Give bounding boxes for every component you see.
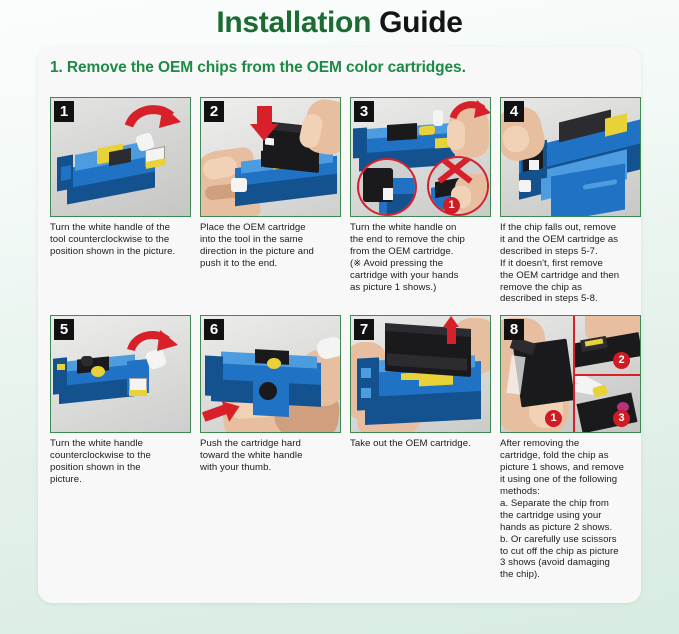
- step-caption-3: Turn the white handle on the end to remo…: [350, 222, 491, 293]
- red-curved-arrow-icon: [127, 330, 181, 360]
- step-number-badge: 4: [504, 101, 524, 122]
- step-caption-6: Push the cartridge hard toward the white…: [200, 438, 341, 474]
- step8-panel-2: [575, 316, 641, 374]
- steps-row-1: 1 Turn the white handle of the tool coun…: [50, 97, 630, 305]
- installation-guide-page: Installation Guide 1. Remove the OEM chi…: [0, 0, 679, 634]
- step-number-badge: 7: [354, 319, 374, 340]
- step-cell-2: 2 Place the OEM cartridge into the tool …: [200, 97, 341, 305]
- page-title-black: Guide: [379, 6, 463, 39]
- step-cell-7: 7 Take out the OEM cartridge.: [350, 315, 491, 581]
- step-image-7: 7: [350, 315, 491, 433]
- step-cell-3: 1 3 Turn the white handle on the end to …: [350, 97, 491, 305]
- step8-panel-3: [575, 376, 641, 433]
- step-number-badge: 8: [504, 319, 524, 340]
- section-heading: 1. Remove the OEM chips from the OEM col…: [50, 59, 466, 77]
- inset-number-badge-1: 1: [443, 197, 460, 214]
- step-image-3: 1 3: [350, 97, 491, 217]
- red-curved-arrow-icon: [449, 100, 491, 126]
- step-cell-8: 1 2 3 8 After removing the cartridge, fo…: [500, 315, 641, 581]
- step-cell-6: 6 Push the cartridge hard toward the whi…: [200, 315, 341, 581]
- steps-row-2: 5 Turn the white handle counterclockwise…: [50, 315, 630, 581]
- step-image-6: 6: [200, 315, 341, 433]
- page-title-green: Installation: [216, 6, 371, 39]
- step-image-8: 1 2 3 8: [500, 315, 641, 433]
- step-caption-4: If the chip falls out, remove it and the…: [500, 222, 641, 305]
- step-caption-1: Turn the white handle of the tool counte…: [50, 222, 191, 258]
- step-number-badge: 1: [54, 101, 74, 122]
- step-image-4: 4: [500, 97, 641, 217]
- step-cell-5: 5 Turn the white handle counterclockwise…: [50, 315, 191, 581]
- step-cell-1: 1 Turn the white handle of the tool coun…: [50, 97, 191, 305]
- step-caption-8: After removing the cartridge, fold the c…: [500, 438, 641, 581]
- step-caption-2: Place the OEM cartridge into the tool in…: [200, 222, 341, 270]
- step-number-badge: 6: [204, 319, 224, 340]
- red-circle-inset-left: [357, 158, 417, 216]
- page-title: Installation Guide: [0, 0, 679, 43]
- red-curved-arrow-icon: [125, 104, 185, 138]
- steps-grid: 1 Turn the white handle of the tool coun…: [50, 97, 630, 581]
- step-image-5: 5: [50, 315, 191, 433]
- step-image-1: 1: [50, 97, 191, 217]
- step-number-badge: 2: [204, 101, 224, 122]
- step-number-badge: 3: [354, 101, 374, 122]
- step-number-badge: 5: [54, 319, 74, 340]
- step-caption-7: Take out the OEM cartridge.: [350, 438, 491, 450]
- step-caption-5: Turn the white handle counterclockwise t…: [50, 438, 191, 486]
- step-image-2: 2: [200, 97, 341, 217]
- guide-card: 1. Remove the OEM chips from the OEM col…: [38, 47, 641, 603]
- step-cell-4: 4 If the chip falls out, remove it and t…: [500, 97, 641, 305]
